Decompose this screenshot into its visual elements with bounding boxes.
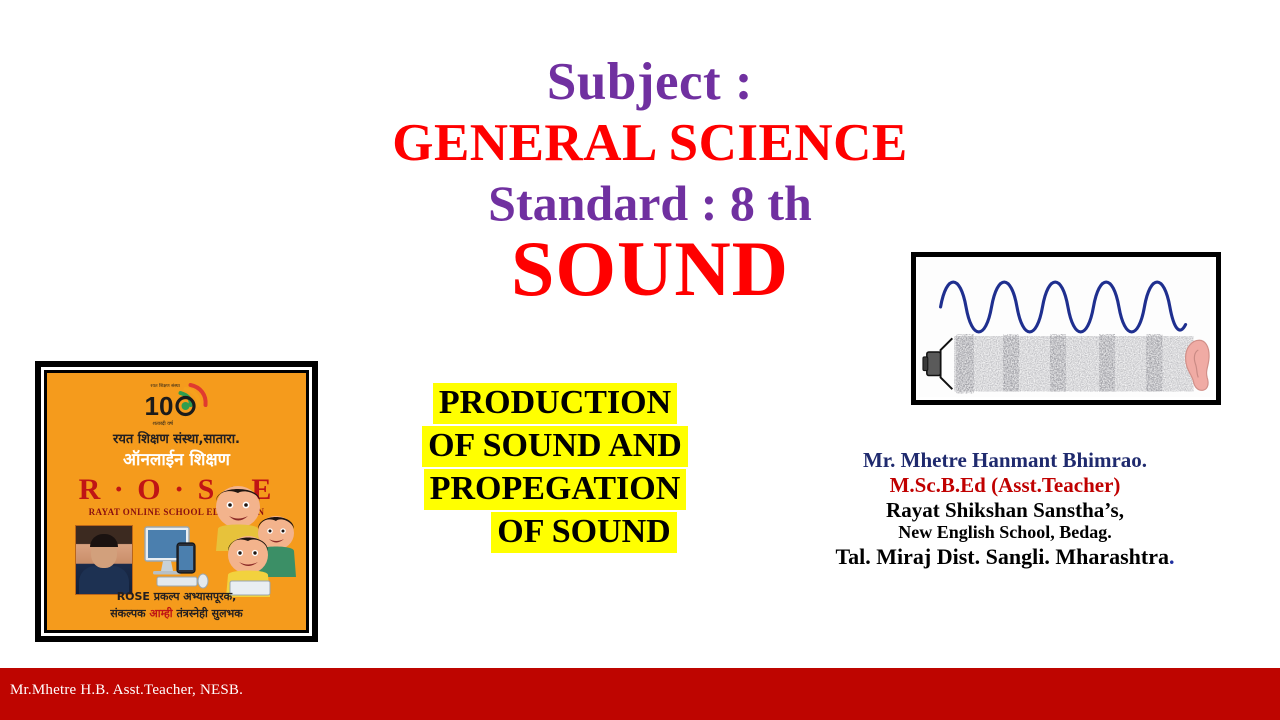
- heading-line-4-text: OF SOUND: [491, 512, 676, 553]
- kid-girl-front: [226, 536, 270, 597]
- svg-text:रयत शिक्षण संस्था: रयत शिक्षण संस्था: [150, 382, 180, 389]
- teacher-name: Mr. Mhetre Hanmant Bhimrao.: [795, 448, 1215, 473]
- rose-poster: 10 रयत शिक्षण संस्था शताब्दी वर्ष रयत शि…: [47, 373, 306, 630]
- photo-hair: [90, 534, 118, 547]
- cartoon-kids-illustration: [200, 477, 304, 599]
- rose-poster-border: 10 रयत शिक्षण संस्था शताब्दी वर्ष रयत शि…: [41, 367, 312, 636]
- svg-text:10: 10: [144, 391, 173, 421]
- sound-wave-picture-frame: [911, 252, 1221, 405]
- teacher-photo: [75, 525, 133, 595]
- subject-value: GENERAL SCIENCE: [340, 117, 960, 170]
- school-address: Tal. Miraj Dist. Sangli. Mharashtra.: [795, 544, 1215, 570]
- institution-name: Rayat Shikshan Sanstha’s,: [795, 498, 1215, 523]
- subject-label: Subject :: [340, 56, 960, 109]
- poster-footer-highlight: आम्ही: [149, 607, 172, 620]
- highlighted-heading: PRODUCTION OF SOUND AND PROPEGATION OF S…: [345, 383, 765, 555]
- sound-wave-diagram: [919, 260, 1213, 397]
- poster-online-line: ऑनलाईन शिक्षण: [47, 447, 306, 470]
- heading-line-4: OF SOUND: [345, 512, 765, 553]
- teacher-qualification: M.Sc.B.Ed (Asst.Teacher): [795, 473, 1215, 498]
- speaker-icon: [923, 338, 952, 389]
- school-name: New English School, Bedag.: [795, 522, 1215, 543]
- title-block: Subject : GENERAL SCIENCE Standard : 8 t…: [340, 56, 960, 308]
- svg-text:शताब्दी वर्ष: शताब्दी वर्ष: [152, 420, 173, 427]
- credits-block: Mr. Mhetre Hanmant Bhimrao. M.Sc.B.Ed (A…: [795, 448, 1215, 569]
- sound-wave-picture-border: [916, 257, 1216, 400]
- poster-footer-line-1: ROSE प्रकल्प अभ्यासपूरक,: [47, 589, 306, 604]
- heading-line-1-text: PRODUCTION: [433, 383, 677, 424]
- heading-line-3-text: PROPEGATION: [424, 469, 687, 510]
- topic-title: SOUND: [340, 230, 960, 308]
- sine-wave-path: [941, 282, 1186, 332]
- heading-line-2-text: OF SOUND AND: [422, 426, 688, 467]
- school-address-end-dot: .: [1169, 544, 1175, 569]
- footer-credit-text: Mr.Mhetre H.B. Asst.Teacher, NESB.: [10, 682, 243, 699]
- slide-canvas: Subject : GENERAL SCIENCE Standard : 8 t…: [0, 0, 1280, 720]
- poster-footer-2a: संकल्पक: [110, 607, 149, 620]
- heading-line-2: OF SOUND AND: [345, 426, 765, 467]
- rose-poster-frame: 10 रयत शिक्षण संस्था शताब्दी वर्ष रयत शि…: [35, 361, 318, 642]
- heading-line-3: PROPEGATION: [345, 469, 765, 510]
- centenary-100-logo-icon: 10 रयत शिक्षण संस्था शताब्दी वर्ष: [138, 379, 212, 429]
- sound-wave-svg: [919, 260, 1213, 397]
- school-address-text: Tal. Miraj Dist. Sangli. Mharashtra: [836, 544, 1169, 569]
- poster-footer-line-2: संकल्पक आम्ही तंत्रस्नेही सुलभक: [47, 606, 306, 621]
- footer-bar: Mr.Mhetre H.B. Asst.Teacher, NESB.: [0, 668, 1280, 720]
- poster-footer-2b: तंत्रस्नेही सुलभक: [173, 607, 243, 620]
- standard-label: Standard : 8 th: [340, 178, 960, 228]
- poster-org-line: रयत शिक्षण संस्था,सातारा.: [47, 429, 306, 447]
- heading-line-1: PRODUCTION: [345, 383, 765, 424]
